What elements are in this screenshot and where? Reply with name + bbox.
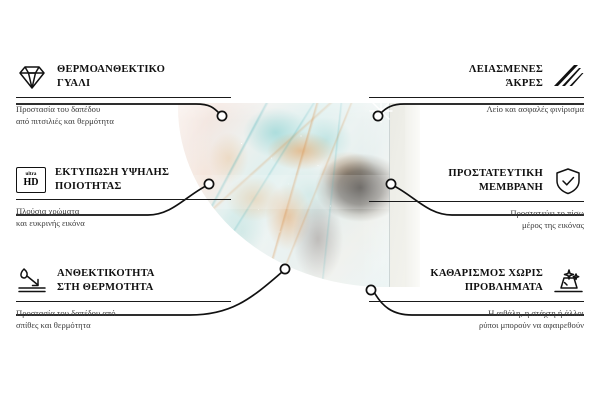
feature-easy-cleaning: ΚΑΘΑΡΙΣΜΟΣ ΧΩΡΙΣ ΠΡΟΒΛΗΜΑΤΑ Η αιθάλη, η …	[369, 266, 584, 331]
feature-title: ΕΚΤΥΠΩΣΗ ΥΨΗΛΗΣ ΠΟΙΟΤΗΤΑΣ	[55, 166, 169, 194]
feature-description: Προστασία του δαπέδου από σπίθες και θερ…	[16, 307, 231, 331]
feature-title: ΛΕΙΑΣΜΕΝΕΣ ΆΚΡΕΣ	[469, 63, 543, 91]
diagonal-hatch-edge-icon	[552, 62, 584, 92]
divider	[16, 199, 231, 200]
feature-description: Προστατεύει το πίσω μέρος της εικόνας	[369, 207, 584, 231]
flame-arrow-surface-icon	[16, 266, 48, 296]
divider	[369, 201, 584, 202]
feature-title: ΑΝΘΕΚΤΙΚΟΤΗΤΑ ΣΤΗ ΘΕΡΜΟΤΗΤΑ	[57, 267, 155, 295]
sponge-sparkle-icon	[552, 266, 584, 296]
feature-polished-edges: ΛΕΙΑΣΜΕΝΕΣ ΆΚΡΕΣ Λείο και ασφαλές φινίρι…	[369, 62, 584, 115]
feature-title: ΘΕΡΜΟΑΝΘΕΚΤΙΚΟ ΓΥΑΛΙ	[57, 63, 165, 91]
feature-description: Πλούσια χρώματα και ευκρινής εικόνα	[16, 205, 231, 229]
diamond-icon	[16, 62, 48, 92]
feature-title: ΚΑΘΑΡΙΣΜΟΣ ΧΩΡΙΣ ΠΡΟΒΛΗΜΑΤΑ	[430, 267, 543, 295]
divider	[16, 301, 231, 302]
feature-heat-durability: ΑΝΘΕΚΤΙΚΟΤΗΤΑ ΣΤΗ ΘΕΡΜΟΤΗΤΑ Προστασία το…	[16, 266, 231, 331]
connector-dot-3	[280, 264, 289, 273]
feature-description: Η αιθάλη, η στάχτη ή άλλοι ρύποι μπορούν…	[369, 307, 584, 331]
divider	[369, 97, 584, 98]
feature-description: Λείο και ασφαλές φινίρισμα	[369, 103, 584, 115]
feature-protective-membrane: ΠΡΟΣΤΑΤΕΥΤΙΚΗ ΜΕΜΒΡΑΝΗ Προστατεύει το πί…	[369, 166, 584, 231]
shield-check-icon	[552, 166, 584, 196]
feature-high-quality-print: ultra HD ΕΚΤΥΠΩΣΗ ΥΨΗΛΗΣ ΠΟΙΟΤΗΤΑΣ Πλούσ…	[16, 166, 231, 230]
divider	[16, 97, 231, 98]
feature-heat-resistant-glass: ΘΕΡΜΟΑΝΘΕΚΤΙΚΟ ΓΥΑΛΙ Προστασία του δαπέδ…	[16, 62, 231, 127]
feature-description: Προστασία του δαπέδου από πιτσιλιές και …	[16, 103, 231, 127]
feature-title: ΠΡΟΣΤΑΤΕΥΤΙΚΗ ΜΕΜΒΡΑΝΗ	[448, 167, 543, 195]
ultra-hd-badge-icon: ultra HD	[16, 167, 46, 193]
badge-hd-label: HD	[24, 178, 39, 188]
infographic-canvas: ΘΕΡΜΟΑΝΘΕΚΤΙΚΟ ΓΥΑΛΙ Προστασία του δαπέδ…	[0, 0, 600, 400]
divider	[369, 301, 584, 302]
